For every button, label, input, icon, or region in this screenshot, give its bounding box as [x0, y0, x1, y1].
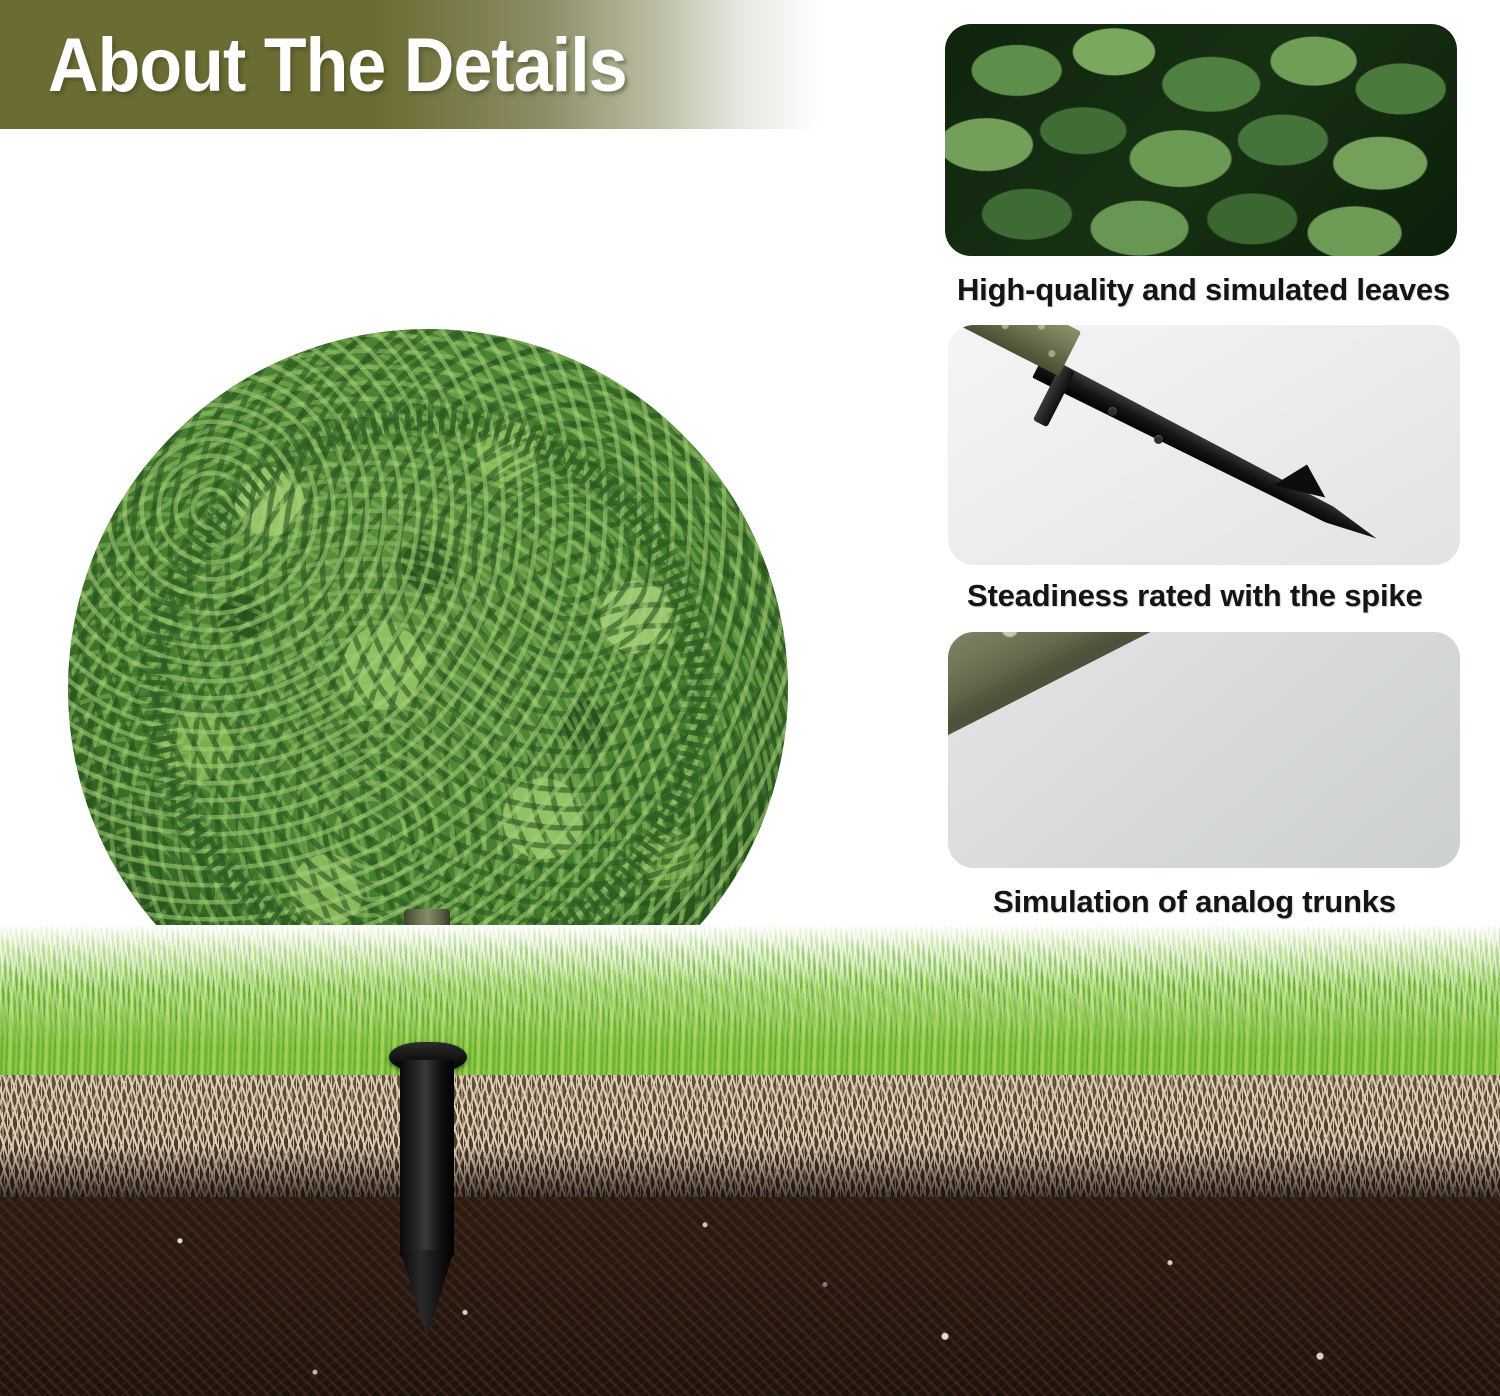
- spike-shaft: [400, 1060, 454, 1256]
- feature-caption-spike: Steadiness rated with the spike: [967, 578, 1423, 614]
- spike-body-shape: [1032, 354, 1382, 550]
- feature-caption-trunk: Simulation of analog trunks: [993, 884, 1396, 920]
- ground-cross-section: [0, 925, 1500, 1396]
- trunk-closeup-photo: [948, 632, 1460, 868]
- root-layer-shadow: [0, 1075, 1500, 1205]
- feature-caption-leaves: High-quality and simulated leaves: [957, 272, 1450, 308]
- feature-panel-column: High-quality and simulated leaves Steadi…: [945, 0, 1500, 940]
- product-detail-infographic: About The Details High-quality and simul…: [0, 0, 1500, 1396]
- leaf-closeup-photo: [945, 24, 1457, 256]
- page-title: About The Details: [48, 24, 627, 108]
- spike-rivet-icon: [1108, 407, 1117, 416]
- spike-rivet-icon: [1154, 435, 1163, 444]
- header-banner: About The Details: [0, 0, 820, 129]
- trunk-sleeve-shape: [948, 325, 1081, 376]
- feature-block-trunk: [948, 632, 1460, 868]
- soil-layer: [0, 1197, 1500, 1396]
- feature-block-leaves: [945, 24, 1457, 256]
- feature-block-spike: [948, 325, 1460, 565]
- grass-layer: [0, 925, 1500, 1077]
- ground-spike-photo: [948, 325, 1460, 565]
- grass-blades: [0, 925, 1500, 1047]
- trunk-texture-shape: [948, 632, 1460, 745]
